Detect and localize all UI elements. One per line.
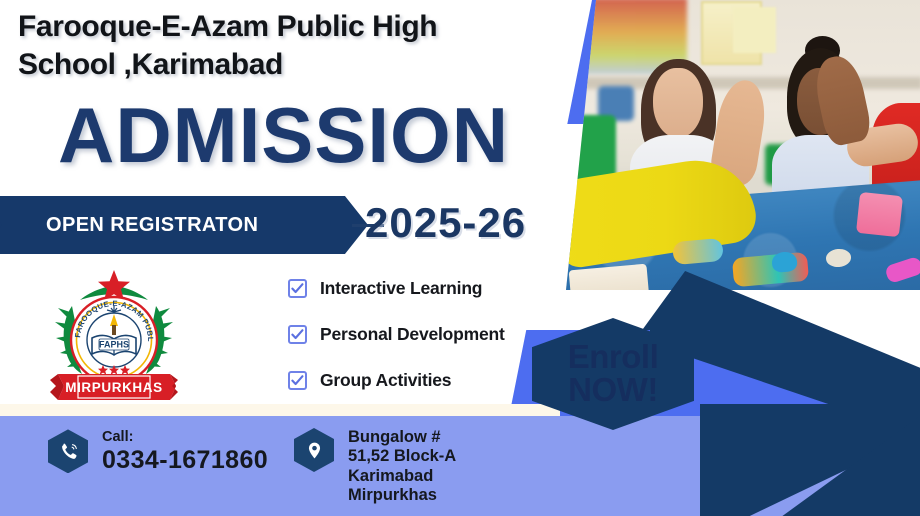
headline-admission: ADMISSION (58, 98, 509, 172)
address-lines: Bungalow # 51,52 Block-A Karimabad Mirpu… (348, 428, 456, 506)
feature-label: Interactive Learning (320, 278, 482, 299)
school-crest-icon: FAROOQUE-E-AZAM PUBLIC HIGH SCHOOL FAPHS (40, 268, 188, 410)
open-registration-banner: OPEN REGISTRATON (0, 196, 368, 254)
address-line: 51,52 Block-A (348, 447, 456, 466)
checkbox-checked-icon (288, 325, 307, 344)
school-name-line-1: Farooque-E-Azam Public High (18, 8, 538, 46)
contact-address: Bungalow # 51,52 Block-A Karimabad Mirpu… (294, 428, 456, 506)
phone-icon (48, 429, 88, 473)
page-title: Farooque-E-Azam Public High School ,Kari… (18, 8, 538, 85)
location-pin-icon (294, 428, 334, 472)
enroll-badge-line-1: Enroll (568, 340, 659, 373)
feature-label: Personal Development (320, 324, 505, 345)
feature-label: Group Activities (320, 370, 451, 391)
checkbox-checked-icon (288, 371, 307, 390)
feature-item: Group Activities (288, 370, 548, 391)
logo-monogram: FAPHS (99, 340, 129, 350)
admission-poster: Farooque-E-Azam Public High School ,Kari… (0, 0, 920, 516)
classroom-photo (566, 0, 920, 290)
feature-item: Personal Development (288, 324, 548, 345)
address-line: Karimabad (348, 467, 456, 486)
address-line: Mirpurkhas (348, 486, 456, 505)
phone-number[interactable]: 0334-1671860 (102, 446, 268, 475)
enroll-badge-line-2: NOW! (568, 373, 658, 408)
address-line: Bungalow # (348, 428, 456, 447)
phone-label: Call: (102, 429, 133, 445)
school-name-line-2: School ,Karimabad (18, 46, 538, 84)
feature-list: Interactive Learning Personal Developmen… (288, 278, 548, 416)
open-registration-label: OPEN REGISTRATON (46, 214, 258, 237)
school-logo: FAROOQUE-E-AZAM PUBLIC HIGH SCHOOL FAPHS (40, 268, 188, 410)
academic-year-label: 2025-26 (365, 199, 526, 247)
feature-item: Interactive Learning (288, 278, 548, 299)
checkbox-checked-icon (288, 279, 307, 298)
logo-ribbon-text: MIRPURKHAS (65, 380, 163, 395)
contact-phone[interactable]: Call: 0334-1671860 (48, 428, 268, 475)
